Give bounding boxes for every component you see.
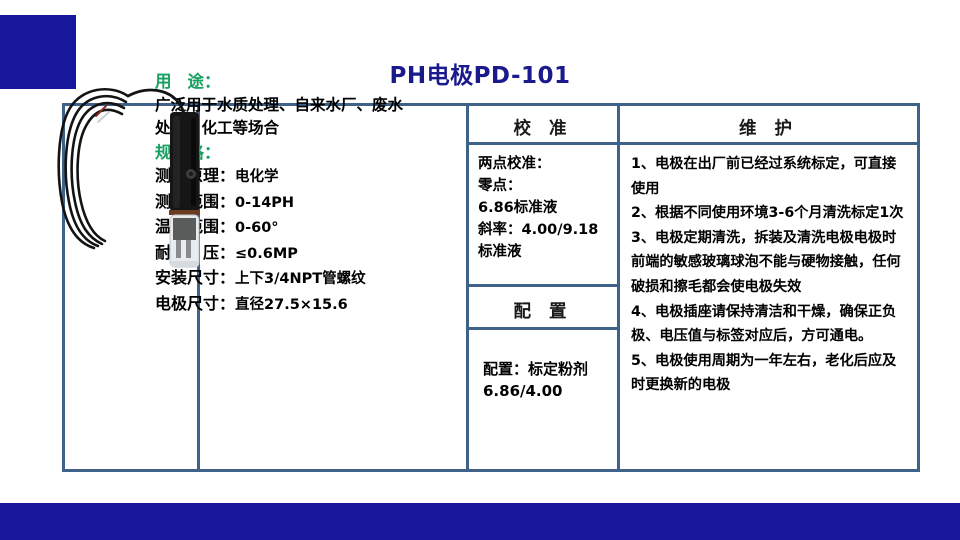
calibration-header: 校 准 [469, 106, 617, 145]
spec-value-mounting: 上下3/4NPT管螺纹 [235, 271, 366, 287]
calibration-line-3: 6.86标准液 [478, 197, 608, 219]
spec-heading-char: 规 [155, 143, 172, 162]
maintenance-item-3: 3、电极定期清洗，拆装及清洗电极电极时前端的敏感玻璃球泡不能与硬物接触，任何破损… [631, 226, 905, 300]
calibration-line-2: 零点： [478, 175, 608, 197]
spec-value-temperature: 0-60° [235, 220, 279, 236]
decor-navy-bar-bottom [0, 503, 960, 540]
usage-heading-rest: 途： [188, 72, 221, 91]
spec-value-dimension: 直径27.5×15.6 [235, 297, 348, 313]
spec-label-temperature: 温度范围： [155, 217, 235, 236]
calibration-body: 两点校准： 零点： 6.86标准液 斜率：4.00/9.18标准液 [469, 145, 617, 287]
usage-heading-char: 用 [155, 72, 172, 91]
spec-label-mounting: 安装尺寸： [155, 268, 235, 287]
spec-label-pressure: 耐 压： [155, 243, 235, 262]
specs-text-block: 用途： 广泛用于水质处理、自来水厂、废水处理、化工等场合 规格： 测量原理：电化… [155, 70, 405, 317]
table-cell-calibration: 校 准 两点校准： 零点： 6.86标准液 斜率：4.00/9.18标准液 配 … [469, 106, 620, 469]
maintenance-item-1: 1、电极在出厂前已经过系统标定，可直接使用 [631, 152, 905, 201]
spec-heading: 规格： [155, 141, 405, 165]
table-cell-maintenance: 维 护 1、电极在出厂前已经过系统标定，可直接使用 2、根据不同使用环境3-6个… [620, 106, 917, 469]
spec-label-dimension: 电极尺寸： [155, 294, 235, 313]
maintenance-item-4: 4、电极插座请保持清洁和干燥，确保正负极、电压值与标签对应后，方可通电。 [631, 300, 905, 349]
usage-heading: 用途： [155, 70, 405, 94]
calibration-line-4: 斜率：4.00/9.18标准液 [478, 219, 608, 263]
maintenance-item-5: 5、电极使用周期为一年左右，老化后应及时更换新的电极 [631, 349, 905, 398]
spec-value-principle: 电化学 [235, 169, 279, 185]
configuration-body: 配置：标定粉剂6.86/4.00 [469, 330, 617, 469]
spec-row-range: 测量范围：0-14PH [155, 190, 405, 216]
spec-heading-rest: 格： [188, 143, 221, 162]
maintenance-item-2: 2、根据不同使用环境3-6个月清洗标定1次 [631, 201, 905, 226]
maintenance-header: 维 护 [620, 106, 917, 145]
spec-row-principle: 测量原理：电化学 [155, 164, 405, 190]
spec-value-pressure: ≤0.6MP [235, 246, 298, 262]
spec-row-mounting: 安装尺寸：上下3/4NPT管螺纹 [155, 266, 405, 292]
maintenance-body: 1、电极在出厂前已经过系统标定，可直接使用 2、根据不同使用环境3-6个月清洗标… [620, 145, 917, 469]
spec-value-range: 0-14PH [235, 195, 294, 211]
spec-row-pressure: 耐 压：≤0.6MP [155, 241, 405, 267]
spec-row-temperature: 温度范围：0-60° [155, 215, 405, 241]
spec-label-range: 测量范围： [155, 192, 235, 211]
page-title: PH电极PD-101 [0, 56, 960, 90]
spec-label-principle: 测量原理： [155, 166, 235, 185]
configuration-header: 配 置 [469, 287, 617, 330]
spec-row-dimension: 电极尺寸：直径27.5×15.6 [155, 292, 405, 318]
usage-text: 广泛用于水质处理、自来水厂、废水处理、化工等场合 [155, 94, 405, 141]
calibration-line-1: 两点校准： [478, 153, 608, 175]
